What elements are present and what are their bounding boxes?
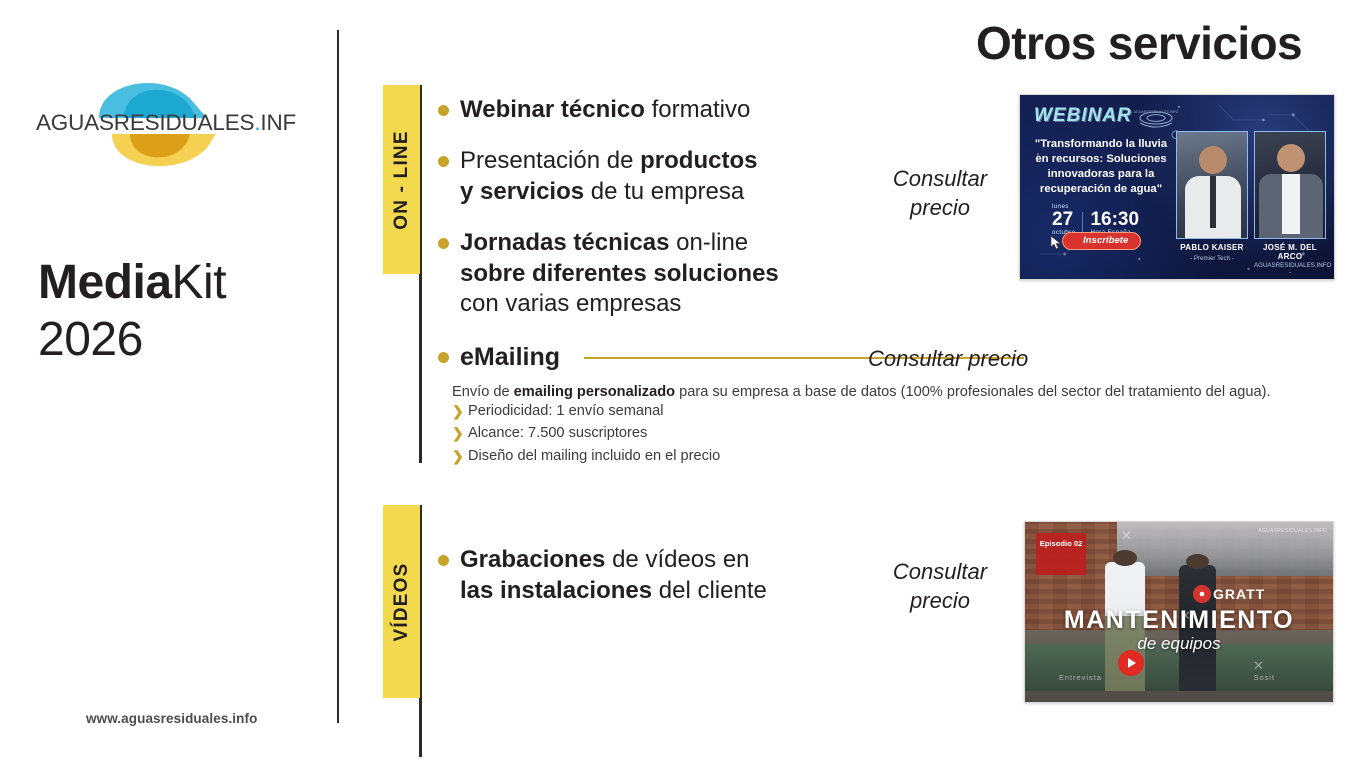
bullet-grabaciones: Grabaciones de vídeos en las instalacion… [438,545,858,606]
price-videos: Consultar precio [860,558,1020,615]
video-brand-label: GRATT [1213,586,1265,602]
bullet-dot-icon [438,105,449,116]
emailing-price: Consultar precio [868,346,1028,372]
price-online: Consultar precio [860,165,1020,222]
list-item: ❯ Periodicidad: 1 envío semanal [452,402,1012,421]
video-decor-x-icon: ✕ [1121,528,1132,544]
video-decor-x-icon: ✕ [1253,658,1264,674]
bullet-grabaciones-l2-light: del cliente [652,577,767,604]
bullet-presentacion-text: Presentación de productos y servicios de… [460,146,757,207]
webinar-speaker2-photo [1254,131,1326,239]
bullet-grabaciones-text: Grabaciones de vídeos en las instalacion… [460,545,767,606]
chevron-right-icon: ❯ [452,447,468,465]
bullet-jornadas-l3-light: con varias empresas [460,290,681,317]
svg-text:AGUASRESIDUALES.INFO: AGUASRESIDUALES.INFO [36,110,296,135]
bullet-jornadas-l1-strong: Jornadas técnicas [460,229,669,256]
section-tab-online: ON - LINE [383,85,420,274]
mediakit-heading: MediaKit 2026 [38,255,318,368]
bullet-webinar: Webinar técnico formativo [438,95,858,126]
list-item: ❯ Alcance: 7.500 suscriptores [452,424,1012,443]
mediakit-year: 2026 [38,312,318,369]
bullet-jornadas-l1-light: on-line [669,229,748,256]
video-subtitle: de equipos [1025,634,1333,654]
bullet-webinar-light: formativo [645,96,750,123]
video-thumbnail[interactable]: Episodio 02 AGUASRESIDUALES.INFO GRATT M… [1024,521,1334,703]
video-episode-badge: Episodio 02 [1036,533,1086,575]
bullet-dot-icon [438,238,449,249]
bullet-presentacion-l2-strong: y servicios [460,178,584,205]
cursor-icon [1050,235,1063,250]
video-caption-right: Sosit [1254,673,1275,682]
bullet-dot-icon [438,352,449,363]
webinar-brand-logo-icon: AGUASRESIDUALES.INFO [1124,107,1188,133]
emailing-title: eMailing [460,343,560,372]
price-online-line2: precio [910,195,970,220]
webinar-quote: "Transformando la lluvia en recursos: So… [1030,137,1172,197]
section-tab-videos-label: VÍDEOS [391,562,413,641]
price-videos-line1: Consultar [893,559,987,584]
webinar-day: 27 [1052,210,1075,229]
bullet-presentacion-l1-light: Presentación de [460,147,640,174]
video-person-left-head [1113,550,1137,566]
section-tab-online-label: ON - LINE [391,130,413,229]
webinar-time: 16:30 [1090,210,1139,229]
price-videos-line2: precio [910,588,970,613]
price-online-line1: Consultar [893,166,987,191]
play-icon[interactable] [1118,650,1144,676]
mediakit-light: Kit [172,256,227,309]
main-vertical-divider [337,30,339,723]
emailing-desc-part2: para su empresa a base de datos (100% pr… [675,384,1270,400]
bullet-webinar-strong: Webinar técnico [460,96,645,123]
svg-text:AGUASRESIDUALES.INFO: AGUASRESIDUALES.INFO [1134,110,1179,114]
list-item-label: Diseño del mailing incluido en el precio [468,447,720,466]
site-url: www.aguasresiduales.info [86,711,257,726]
list-item-label: Periodicidad: 1 envío semanal [468,402,664,421]
page-title: Otros servicios [976,16,1302,70]
bullet-grabaciones-l1-light: de vídeos en [605,546,749,573]
bullet-dot-icon [438,555,449,566]
gear-icon [1195,587,1209,601]
bullet-presentacion-l2-light: de tu empresa [584,178,744,205]
list-item-label: Alcance: 7.500 suscriptores [468,424,647,443]
bullet-jornadas-text: Jornadas técnicas on-line sobre diferent… [460,228,779,320]
left-panel: AGUASRESIDUALES.INFO MediaKit 2026 www.a… [0,0,337,760]
chevron-right-icon: ❯ [452,402,468,420]
video-decor-x-icon: ✕ [1180,608,1191,624]
webinar-speaker1-name: PABLO KAISER [1176,243,1248,252]
webinar-date-separator [1082,212,1083,234]
bullet-presentacion: Presentación de productos y servicios de… [438,146,858,207]
brand-logo: AGUASRESIDUALES.INFO [36,58,296,173]
bullet-grabaciones-l2-strong: las instalaciones [460,577,652,604]
video-caption-left: Entrevista [1059,673,1102,682]
video-title: MANTENIMIENTO [1025,606,1333,635]
bullet-webinar-text: Webinar técnico formativo [460,95,750,126]
webinar-speaker1-role: - Premier Tech - [1176,255,1248,262]
chevron-right-icon: ❯ [452,424,468,442]
webinar-thumbnail[interactable]: WEBINAR AGUASRESIDUALES.INFO "Transforma… [1019,94,1335,280]
emailing-feature-list: ❯ Periodicidad: 1 envío semanal ❯ Alcanc… [452,402,1012,469]
video-brand: GRATT [1195,586,1265,602]
bullet-presentacion-l1-strong: productos [640,147,757,174]
emailing-desc-strong: emailing personalizado [514,384,675,400]
emailing-description: Envío de emailing personalizado para su … [452,383,1292,402]
video-episode-label: Episodio 02 [1036,539,1086,548]
webinar-speaker2-role: - AGUASRESIDUALES.INFO - [1254,255,1326,276]
section-tab-videos: VÍDEOS [383,505,420,698]
aguasresiduales-logo-icon: AGUASRESIDUALES.INFO [36,58,296,173]
bullet-grabaciones-l1-strong: Grabaciones [460,546,605,573]
slide-root: AGUASRESIDUALES.INFO MediaKit 2026 www.a… [0,0,1350,760]
bullet-dot-icon [438,156,449,167]
video-person-right-head [1186,554,1208,569]
list-item: ❯ Diseño del mailing incluido en el prec… [452,447,1012,466]
bullet-jornadas: Jornadas técnicas on-line sobre diferent… [438,228,858,320]
video-watermark: AGUASRESIDUALES.INFO [1258,528,1327,534]
webinar-label: WEBINAR [1034,105,1132,127]
webinar-signup-button[interactable]: Inscríbete [1062,232,1141,250]
webinar-speaker1-photo [1176,131,1248,239]
bullet-jornadas-l2-strong: sobre diferentes soluciones [460,260,779,287]
emailing-desc-part1: Envío de [452,384,514,400]
mediakit-bold: Media [38,256,172,309]
